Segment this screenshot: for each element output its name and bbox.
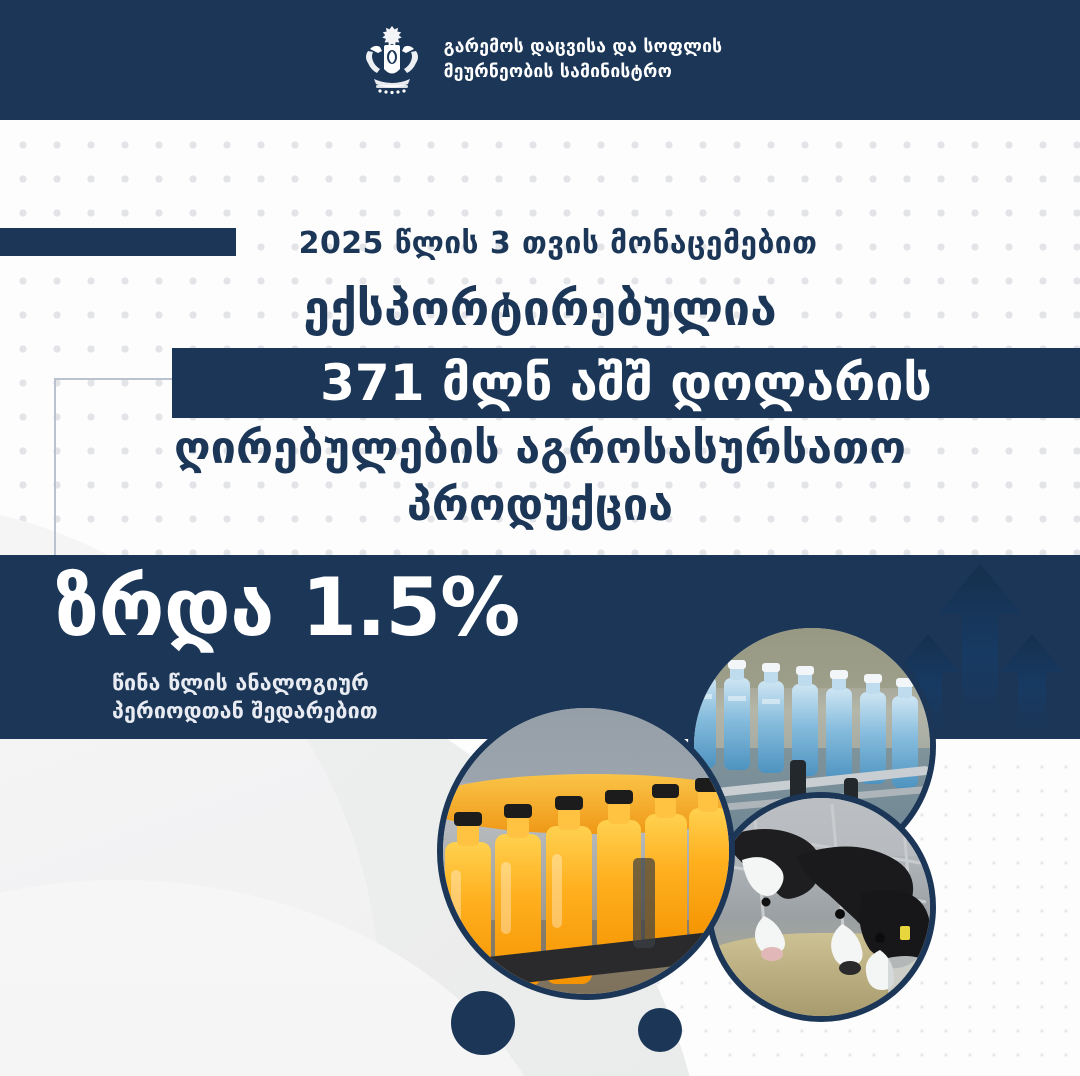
georgia-coat-of-arms-icon <box>358 23 426 97</box>
navy-circle-small <box>638 1008 682 1052</box>
infographic-canvas: გარემოს დაცვისა და სოფლის მეურნეობის სამ… <box>0 0 1080 1076</box>
growth-word: ზრდა <box>55 561 274 654</box>
orange-juice-bottles-icon <box>437 702 735 1000</box>
growth-caption: წინა წლის ანალოგიურ პერიოდთან შედარებით <box>112 670 378 727</box>
growth-headline: ზრდა 1.5% <box>55 568 519 648</box>
navy-circle-large <box>451 991 515 1055</box>
ministry-name-label: გარემოს დაცვისა და სოფლის მეურნეობის სამ… <box>444 35 723 85</box>
dairy-cows-feeding-icon <box>706 792 936 1022</box>
ministry-header: გარემოს დაცვისა და სოფლის მეურნეობის სამ… <box>0 0 1080 120</box>
headline-line-1: ექსპორტირებულია <box>0 284 1080 336</box>
date-label: 2025 წლის 3 თვის მონაცემებით <box>0 226 1080 261</box>
headline-line-2: 371 მლნ აშშ დოლარის <box>172 348 1080 418</box>
headline-line-3: ღირებულების აგროსასურსათო პროდუქცია <box>0 420 1080 533</box>
growth-value: 1.5% <box>301 561 519 654</box>
